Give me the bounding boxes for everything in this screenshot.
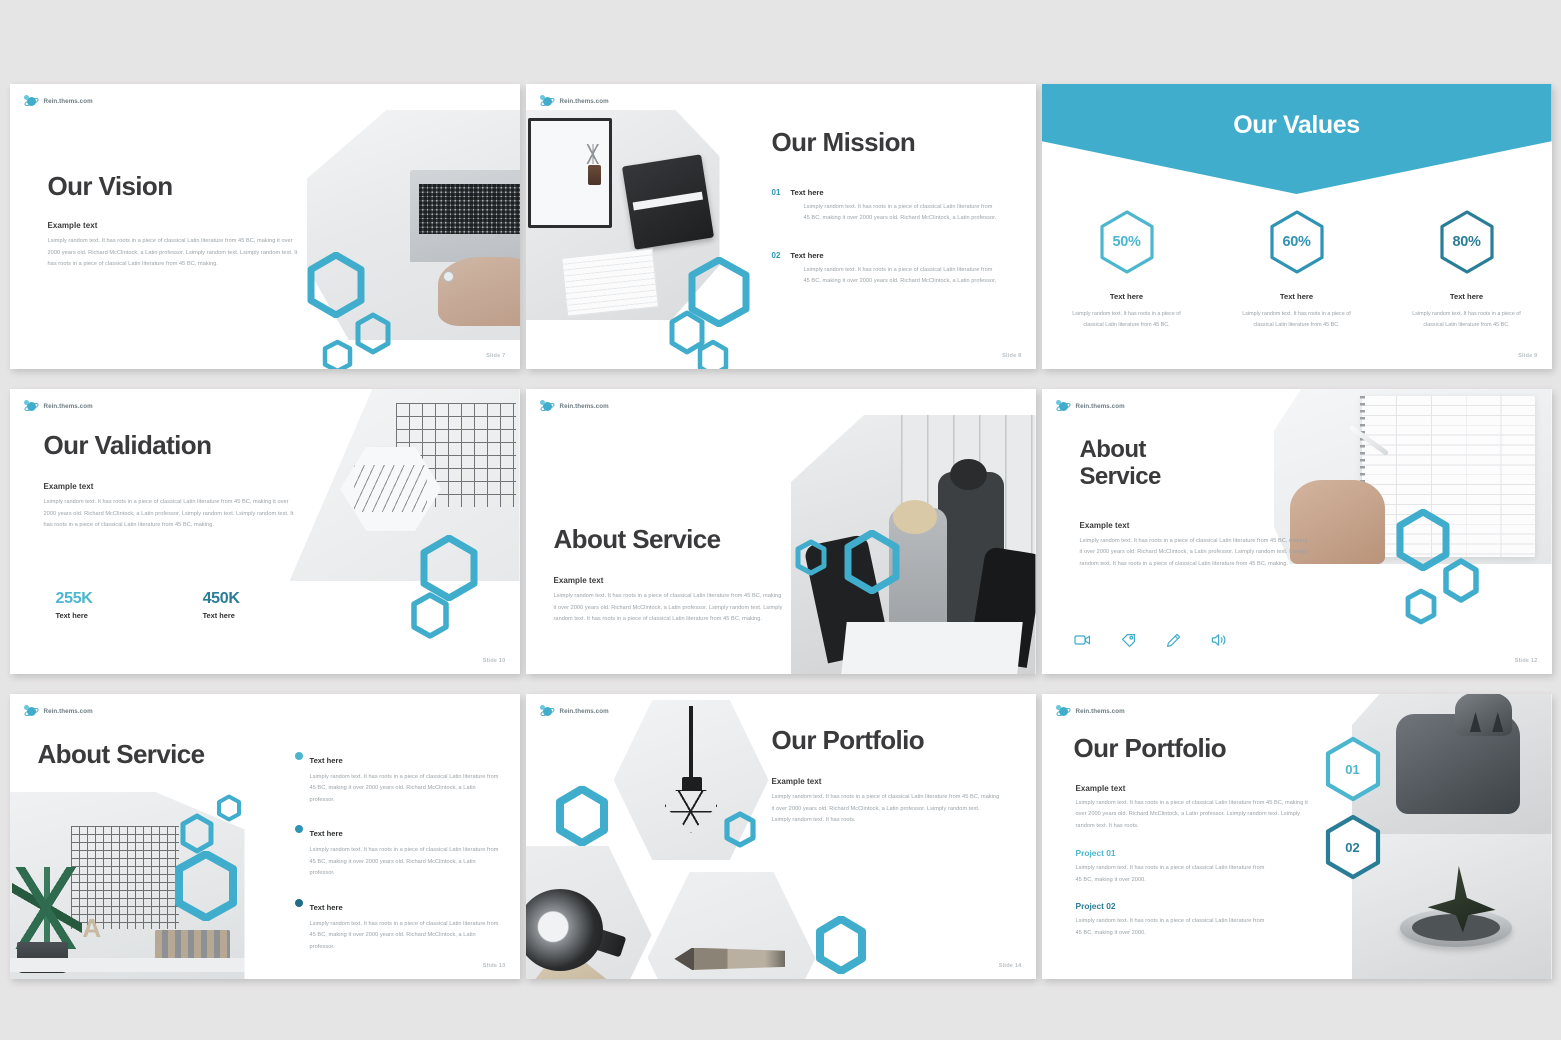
slide-number: Slide 14 <box>999 963 1022 969</box>
subhead: Example text <box>48 221 298 230</box>
page-title: About Service <box>38 740 268 769</box>
logo-text: Rein.thems.com <box>560 708 609 715</box>
hexagon-percent-1: 50% <box>1096 209 1158 275</box>
slide-our-mission[interactable]: Rein.thems.com Our Mission 01 Text here … <box>526 84 1036 369</box>
hexagon-left <box>554 786 610 846</box>
logo-atom-icon <box>1056 400 1071 413</box>
logo-atom-icon <box>24 95 39 108</box>
bullet-1: Text here Lsimply random text. It has ro… <box>295 750 500 806</box>
value-body: Lsimply random text. It has roots in a p… <box>1064 309 1189 331</box>
item-heading: Text here <box>790 251 823 260</box>
slide-about-service-bullets[interactable]: Rein.thems.com A About Service Text here… <box>10 694 520 979</box>
bullet-heading: Text here <box>310 756 343 765</box>
logo-text: Rein.thems.com <box>560 403 609 410</box>
page-title: Our Values <box>1042 111 1552 140</box>
page-title-line2: Service <box>1080 464 1280 491</box>
hexagon-number-02: 02 <box>1322 814 1384 880</box>
page-title: Our Validation <box>44 431 334 460</box>
stat-label: Text here <box>56 611 93 620</box>
item-body: Lsimply random text. It has roots in a p… <box>804 265 1000 288</box>
logo-text: Rein.thems.com <box>1076 403 1125 410</box>
stat-value: 255K <box>56 590 93 608</box>
body-text: Lsimply random text. It has roots in a p… <box>554 591 786 625</box>
hexagon-small <box>408 592 452 639</box>
logo-atom-icon <box>1056 705 1071 718</box>
slide-number: Slide 12 <box>1515 658 1538 664</box>
project-body: Lsimply random text. It has roots in a p… <box>1076 863 1268 886</box>
hexagon-medium <box>178 813 216 854</box>
bullet-dot-icon <box>295 825 303 833</box>
subhead: Example text <box>772 777 1010 786</box>
bullet-body: Lsimply random text. It has roots in a p… <box>310 845 500 879</box>
hexagon-small <box>695 339 731 369</box>
hexagon-percent-3: 80% <box>1436 209 1498 275</box>
hexagon-middle <box>723 811 757 848</box>
page-title: Our Mission <box>772 128 1008 157</box>
bullet-heading: Text here <box>310 903 343 912</box>
logo: Rein.thems.com <box>1056 705 1125 718</box>
value-percent: 50% <box>1112 234 1140 250</box>
subhead: Example text <box>554 576 804 585</box>
value-label: Text here <box>1280 292 1313 301</box>
mission-item-01: 01 Text here Lsimply random text. It has… <box>772 188 1008 225</box>
logo: Rein.thems.com <box>24 400 93 413</box>
page-title: Our Vision <box>48 172 298 201</box>
project-heading: Project 02 <box>1076 901 1311 911</box>
project-2: Project 02 Lsimply random text. It has r… <box>1076 901 1311 939</box>
value-body: Lsimply random text. It has roots in a p… <box>1234 309 1359 331</box>
logo-atom-icon <box>540 400 555 413</box>
video-camera-icon[interactable] <box>1074 633 1091 648</box>
slide-our-vision[interactable]: Rein.thems.com Our Vision Example text L… <box>10 84 520 369</box>
slide-number: Slide 9 <box>1518 353 1537 359</box>
value-label: Text here <box>1450 292 1483 301</box>
body-text: Lsimply random text. It has roots in a p… <box>772 792 1000 826</box>
slide-about-service-icons[interactable]: Rein.thems.com About Service Example tex… <box>1042 389 1552 674</box>
slide-about-service-team[interactable]: Rein.thems.com About Service Example tex… <box>526 389 1036 674</box>
hexagon-medium <box>353 312 393 355</box>
bullet-dot-icon <box>295 752 303 760</box>
logo-text: Rein.thems.com <box>44 403 93 410</box>
body-text: Lsimply random text. It has roots in a p… <box>1076 798 1311 832</box>
logo-text: Rein.thems.com <box>560 98 609 105</box>
stat-label: Text here <box>203 611 240 620</box>
project-number: 02 <box>1345 840 1359 855</box>
logo-text: Rein.thems.com <box>44 708 93 715</box>
body-text: Lsimply random text. It has roots in a p… <box>48 236 298 270</box>
logo-text: Rein.thems.com <box>1076 708 1125 715</box>
project-heading: Project 01 <box>1076 848 1311 858</box>
stat-1: 255K Text here <box>56 590 93 620</box>
hexagon-bottom <box>814 916 868 974</box>
speaker-icon[interactable] <box>1211 633 1227 648</box>
value-card-3: 80% Text here Lsimply random text. It ha… <box>1382 209 1552 331</box>
bullet-2: Text here Lsimply random text. It has ro… <box>295 823 500 879</box>
hexagon-small <box>321 339 354 369</box>
subhead: Example text <box>44 482 334 491</box>
logo: Rein.thems.com <box>540 400 609 413</box>
stat-2: 450K Text here <box>203 590 240 620</box>
value-card-1: 50% Text here Lsimply random text. It ha… <box>1042 209 1212 331</box>
page-title: Our Portfolio <box>1074 734 1314 763</box>
slide-number: Slide 13 <box>483 963 506 969</box>
hexagon-small <box>1404 588 1438 625</box>
subhead: Example text <box>1076 784 1311 793</box>
stat-value: 450K <box>203 590 240 608</box>
item-number: 02 <box>772 251 781 260</box>
logo-atom-icon <box>540 705 555 718</box>
project-number: 01 <box>1345 762 1359 777</box>
project-body: Lsimply random text. It has roots in a p… <box>1076 916 1268 939</box>
pen-nib-photo <box>648 872 816 979</box>
bullet-body: Lsimply random text. It has roots in a p… <box>310 772 500 806</box>
value-card-2: 60% Text here Lsimply random text. It ha… <box>1212 209 1382 331</box>
value-label: Text here <box>1110 292 1143 301</box>
logo: Rein.thems.com <box>1056 400 1125 413</box>
project-1: Project 01 Lsimply random text. It has r… <box>1076 848 1311 886</box>
body-text: Lsimply random text. It has roots in a p… <box>44 497 294 531</box>
hexagon-large <box>173 851 239 921</box>
hexagon-large <box>305 252 367 318</box>
slide-number: Slide 7 <box>486 353 505 359</box>
page-title: Our Portfolio <box>772 726 1010 755</box>
page-title-line1: About <box>1080 437 1280 464</box>
hexagon-number-01: 01 <box>1322 736 1384 802</box>
mission-item-02: 02 Text here Lsimply random text. It has… <box>772 251 1008 288</box>
value-percent: 60% <box>1282 234 1310 250</box>
bullet-heading: Text here <box>310 829 343 838</box>
logo: Rein.thems.com <box>24 705 93 718</box>
slide-our-values[interactable]: Our Values 50% Text here Lsimply random … <box>1042 84 1552 369</box>
logo: Rein.thems.com <box>24 95 93 108</box>
hexagon-medium <box>1440 558 1482 603</box>
logo-atom-icon <box>24 705 39 718</box>
item-heading: Text here <box>790 188 823 197</box>
logo-atom-icon <box>24 400 39 413</box>
pencil-icon[interactable] <box>1166 633 1181 648</box>
logo-text: Rein.thems.com <box>44 98 93 105</box>
item-body: Lsimply random text. It has roots in a p… <box>804 202 1000 225</box>
hexagon-large <box>842 530 902 594</box>
value-percent: 80% <box>1452 234 1480 250</box>
value-body: Lsimply random text. It has roots in a p… <box>1404 309 1529 331</box>
logo-atom-icon <box>540 95 555 108</box>
page-title: About Service <box>554 525 804 554</box>
bullet-dot-icon <box>295 899 303 907</box>
logo: Rein.thems.com <box>540 95 609 108</box>
logo: Rein.thems.com <box>540 705 609 718</box>
slide-number: Slide 8 <box>1002 353 1021 359</box>
hexagon-tiny <box>216 794 242 822</box>
slide-our-validation[interactable]: Rein.thems.com Our Validation Example te… <box>10 389 520 674</box>
slide-our-portfolio-projects[interactable]: Rein.thems.com 01 02 Our Portfolio Examp… <box>1042 694 1552 979</box>
hexagon-percent-2: 60% <box>1266 209 1328 275</box>
body-text: Lsimply random text. It has roots in a p… <box>1080 536 1312 570</box>
speaker-photo <box>526 846 652 979</box>
bullet-3: Text here Lsimply random text. It has ro… <box>295 897 500 953</box>
tag-icon[interactable] <box>1121 633 1136 648</box>
slide-our-portfolio-hex[interactable]: Rein.thems.com Our Portfolio Example tex… <box>526 694 1036 979</box>
bullet-body: Lsimply random text. It has roots in a p… <box>310 919 500 953</box>
subhead: Example text <box>1080 521 1280 530</box>
item-number: 01 <box>772 188 781 197</box>
slide-deck: Rein.thems.com Our Vision Example text L… <box>0 0 1561 1040</box>
slide-number: Slide 10 <box>483 658 506 664</box>
